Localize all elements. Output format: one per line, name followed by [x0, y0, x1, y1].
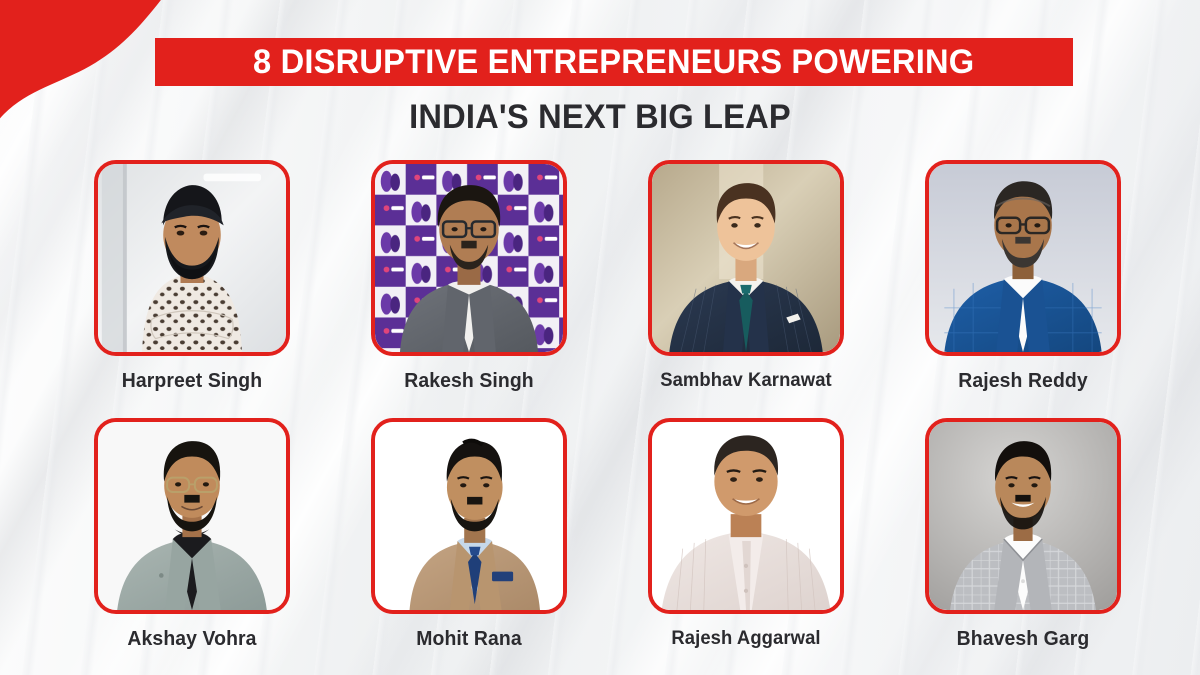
- portrait-photo-harpreet-singh: [98, 164, 286, 352]
- photo-frame: [94, 160, 290, 356]
- person-card-bhavesh-garg[interactable]: Bhavesh Garg: [925, 418, 1121, 651]
- portrait-photo-rajesh-reddy: [929, 164, 1117, 352]
- person-card-rakesh-singh[interactable]: Rakesh Singh: [371, 160, 567, 393]
- poster-canvas: 8 DISRUPTIVE ENTREPRENEURS POWERING INDI…: [0, 0, 1200, 675]
- person-card-rajesh-reddy[interactable]: Rajesh Reddy: [925, 160, 1121, 393]
- photo-frame: [648, 418, 844, 614]
- person-name: Rajesh Aggarwal: [651, 628, 841, 650]
- title-banner: 8 DISRUPTIVE ENTREPRENEURS POWERING: [155, 38, 1073, 86]
- photo-frame: [648, 160, 844, 356]
- people-row-2: Akshay Vohra: [0, 418, 1200, 675]
- portrait-photo-bhavesh-garg: [929, 422, 1117, 610]
- person-name: Sambhav Karnawat: [651, 370, 841, 392]
- person-name: Mohit Rana: [374, 628, 564, 651]
- person-name: Akshay Vohra: [97, 628, 287, 651]
- photo-frame: [371, 160, 567, 356]
- photo-frame: [371, 418, 567, 614]
- title-line-1: 8 DISRUPTIVE ENTREPRENEURS POWERING: [253, 45, 974, 79]
- portrait-photo-akshay-vohra: [98, 422, 286, 610]
- person-name: Rajesh Reddy: [928, 370, 1118, 393]
- photo-frame: [94, 418, 290, 614]
- portrait-photo-rakesh-singh: [375, 164, 563, 352]
- person-card-akshay-vohra[interactable]: Akshay Vohra: [94, 418, 290, 651]
- people-grid: Harpreet Singh: [0, 160, 1200, 675]
- photo-frame: [925, 418, 1121, 614]
- person-card-harpreet-singh[interactable]: Harpreet Singh: [94, 160, 290, 393]
- people-row-1: Harpreet Singh: [0, 160, 1200, 418]
- person-card-sambhav-karnawat[interactable]: Sambhav Karnawat: [648, 160, 844, 392]
- person-card-mohit-rana[interactable]: Mohit Rana: [371, 418, 567, 651]
- person-card-rajesh-aggarwal[interactable]: Rajesh Aggarwal: [648, 418, 844, 650]
- portrait-photo-rajesh-aggarwal: [652, 422, 840, 610]
- portrait-photo-mohit-rana: [375, 422, 563, 610]
- person-name: Rakesh Singh: [374, 370, 564, 393]
- person-name: Harpreet Singh: [97, 370, 287, 393]
- title-line-2: INDIA'S NEXT BIG LEAP: [24, 100, 1176, 134]
- photo-frame: [925, 160, 1121, 356]
- person-name: Bhavesh Garg: [928, 628, 1118, 651]
- portrait-photo-sambhav-karnawat: [652, 164, 840, 352]
